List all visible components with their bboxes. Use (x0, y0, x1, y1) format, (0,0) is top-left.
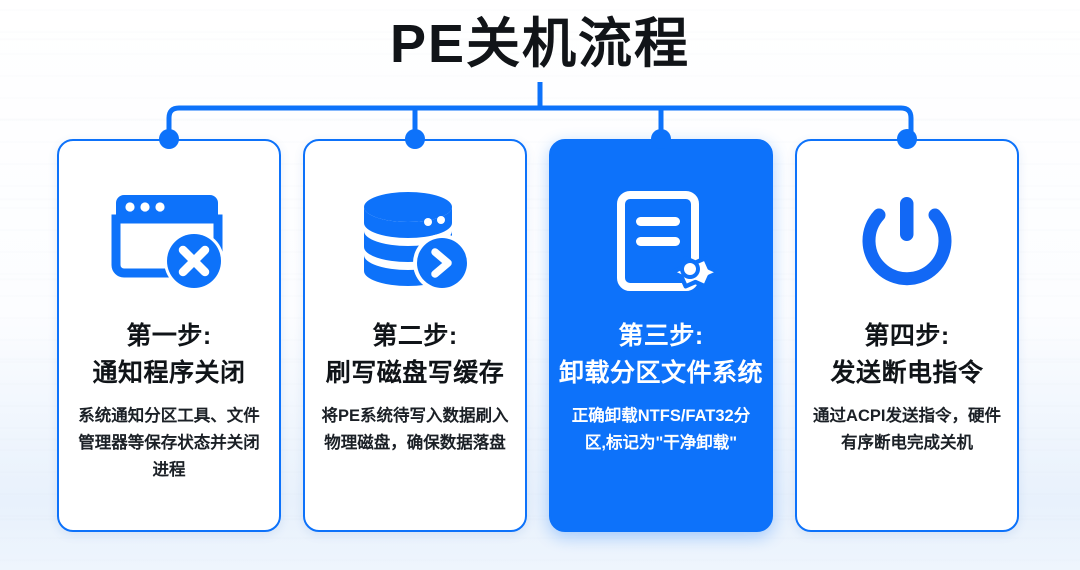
step-title: 刷写磁盘写缓存 (326, 355, 505, 391)
step-title: 卸载分区文件系统 (559, 355, 763, 391)
step-card-4[interactable]: 第四步: 发送断电指令 通过ACPI发送指令，硬件有序断电完成关机 (795, 139, 1019, 532)
step-description: 将PE系统待写入数据刷入物理磁盘，确保数据落盘 (318, 403, 512, 457)
power-button-icon (843, 185, 971, 297)
step-card-3[interactable]: 第三步: 卸载分区文件系统 正确卸载NTFS/FAT32分区,标记为"干净卸载" (549, 139, 773, 532)
step-description: 正确卸载NTFS/FAT32分区,标记为"干净卸载" (564, 403, 758, 457)
connector-dot-4 (897, 129, 917, 149)
connector-dot-3 (651, 129, 671, 149)
connector-dot-1 (159, 129, 179, 149)
step-card-1[interactable]: 第一步: 通知程序关闭 系统通知分区工具、文件管理器等保存状态并关闭进程 (57, 139, 281, 532)
infographic-canvas: PE关机流程 第一步: 通知程序关闭 系统通知分区工具、文件管理器等保存状态并关 (0, 0, 1080, 570)
step-label: 第一步: (126, 319, 211, 353)
database-flush-icon (351, 185, 479, 297)
step-card-2[interactable]: 第二步: 刷写磁盘写缓存 将PE系统待写入数据刷入物理磁盘，确保数据落盘 (303, 139, 527, 532)
connector-dot-2 (405, 129, 425, 149)
document-gear-icon (597, 185, 725, 297)
step-label: 第二步: (372, 319, 457, 353)
window-close-icon (105, 185, 233, 297)
step-description: 通过ACPI发送指令，硬件有序断电完成关机 (810, 403, 1004, 457)
step-label: 第三步: (618, 319, 703, 353)
step-title: 通知程序关闭 (92, 355, 245, 391)
step-label: 第四步: (864, 319, 949, 353)
step-title: 发送断电指令 (830, 355, 983, 391)
step-description: 系统通知分区工具、文件管理器等保存状态并关闭进程 (72, 403, 266, 484)
page-title: PE关机流程 (0, 8, 1080, 80)
